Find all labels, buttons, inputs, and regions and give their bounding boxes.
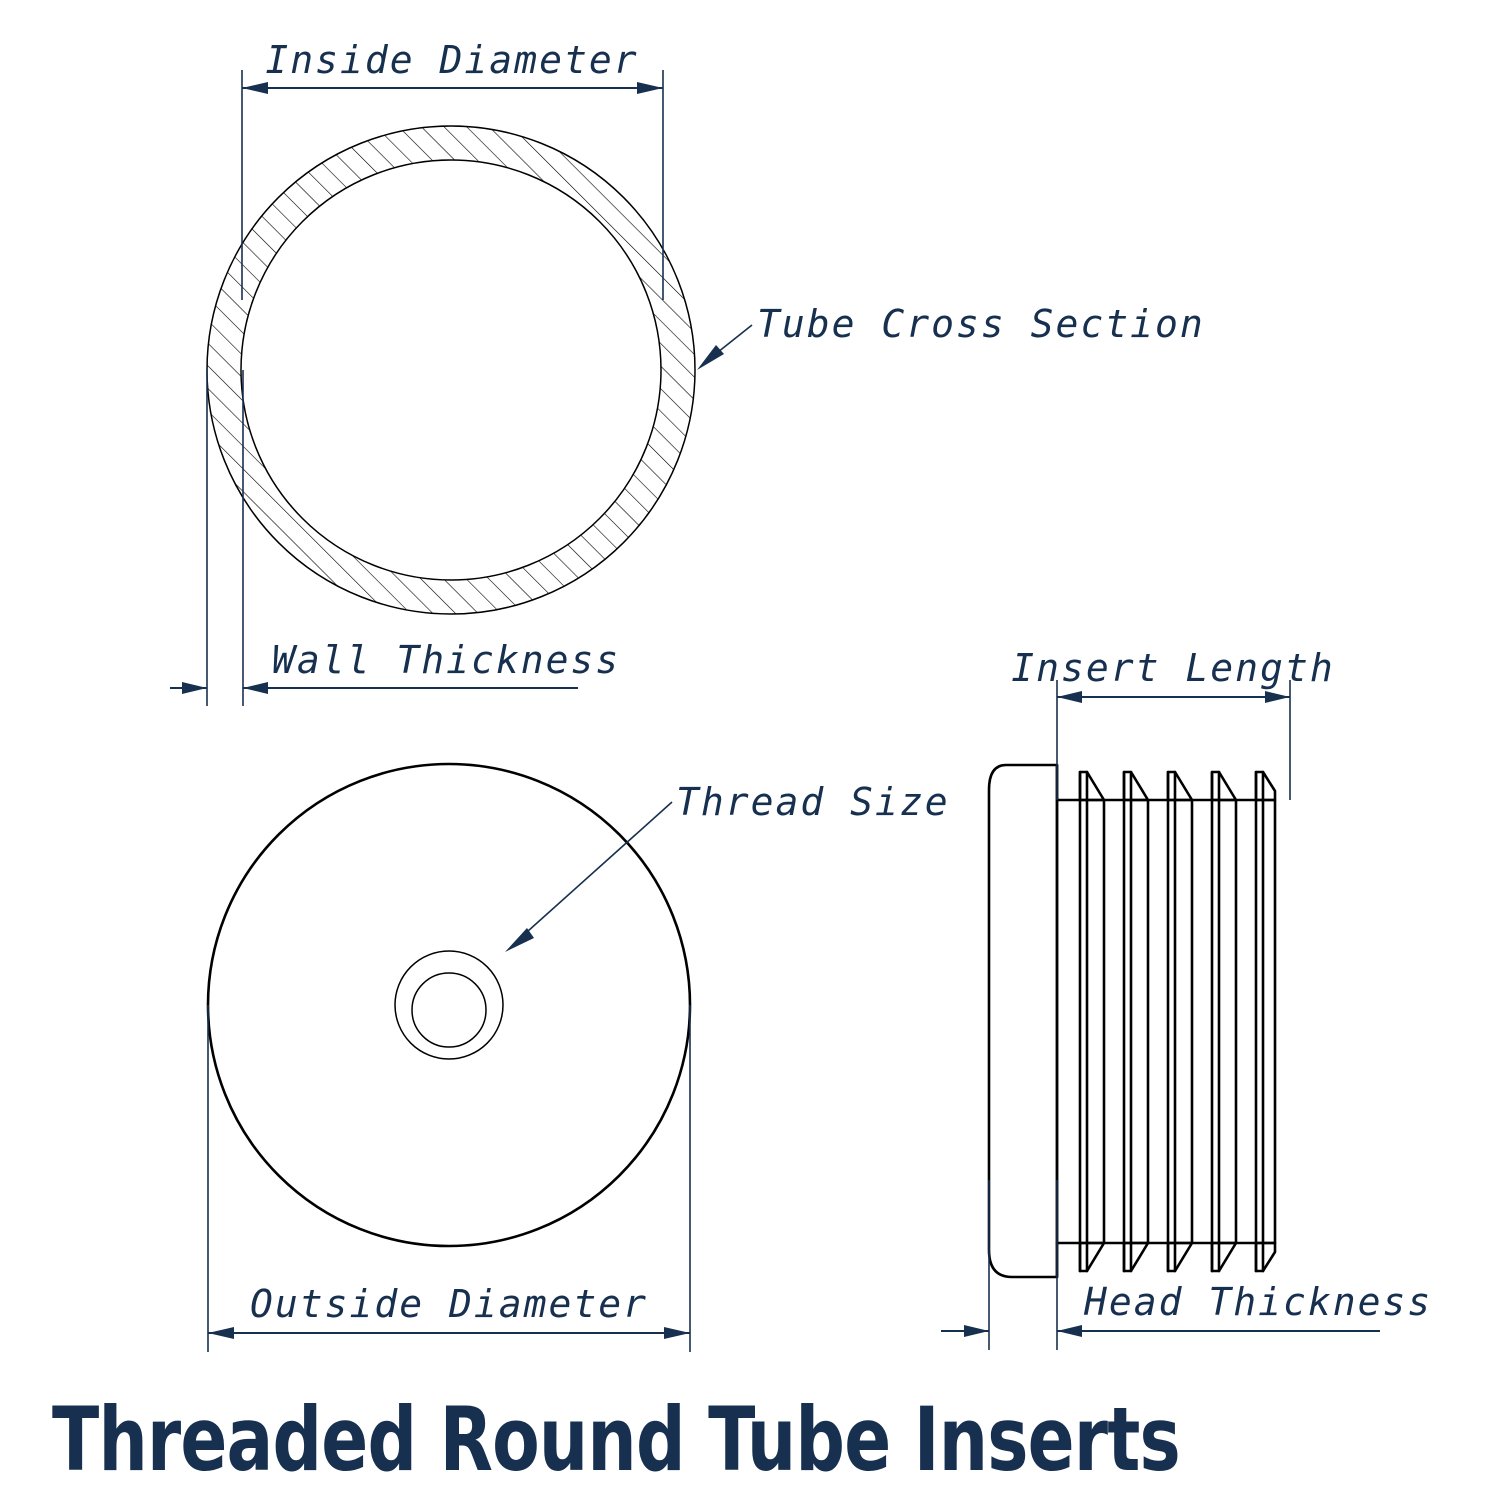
dimension-label-head-thickness: Head Thickness xyxy=(1083,1280,1432,1324)
arrow-head-left xyxy=(182,682,207,694)
arrow-head-right xyxy=(243,682,268,694)
thread-tooth-bottom xyxy=(1080,1243,1104,1271)
technical-drawing-canvas: Inside Diameter Tube Cross Section Wall … xyxy=(0,0,1500,1500)
thread-tooth-top xyxy=(1212,772,1236,800)
page-title: Threaded Round Tube Inserts xyxy=(52,1388,1180,1491)
arrow-head-left xyxy=(1057,691,1082,703)
insert-head-flange xyxy=(989,765,1057,1277)
thread-tooth-top xyxy=(1080,772,1104,800)
tube-cross-section-view xyxy=(190,110,720,640)
dimension-label-insert-length: Insert Length xyxy=(1011,646,1334,690)
dimension-label-inside-diameter: Inside Diameter xyxy=(265,38,638,82)
thread-tooth-bottom xyxy=(1124,1243,1148,1271)
dimension-insert-length: Insert Length xyxy=(1011,646,1334,800)
thread-tooth-bottom xyxy=(1168,1243,1192,1271)
dimension-head-thickness: Head Thickness xyxy=(941,1180,1432,1350)
thread-teeth-bottom xyxy=(1080,1243,1275,1271)
thread-tooth-top xyxy=(1256,772,1275,800)
dimension-label-wall-thickness: Wall Thickness xyxy=(272,638,620,682)
thread-inner-circle xyxy=(412,973,486,1047)
arrow-head-right xyxy=(1057,1325,1082,1337)
label-tube-cross-section: Tube Cross Section xyxy=(757,302,1205,346)
leader-tube-cross-section: Tube Cross Section xyxy=(697,302,1205,370)
arrow-head-right xyxy=(1265,691,1290,703)
leader-arrow-head xyxy=(505,928,534,952)
arrow-head-left xyxy=(208,1327,234,1339)
thread-outer-circle xyxy=(395,951,503,1059)
leader-thread-size: Thread Size xyxy=(505,780,950,952)
tube-wall-hatching xyxy=(190,110,720,640)
insert-side-view xyxy=(989,765,1275,1277)
arrow-head-left xyxy=(964,1325,989,1337)
arrow-head-left xyxy=(242,82,268,94)
thread-root-lines xyxy=(1080,772,1263,1271)
arrow-head-right xyxy=(664,1327,690,1339)
insert-front-view xyxy=(208,764,690,1246)
thread-tooth-bottom xyxy=(1212,1243,1236,1271)
thread-tooth-bottom xyxy=(1256,1243,1275,1271)
insert-body-outline xyxy=(1057,800,1275,1243)
drawing-page: Inside Diameter Tube Cross Section Wall … xyxy=(0,0,1500,1500)
thread-teeth-top xyxy=(1080,772,1275,800)
arrow-head-right xyxy=(637,82,663,94)
label-thread-size: Thread Size xyxy=(676,780,950,824)
insert-outer-circle xyxy=(208,764,690,1246)
dimension-label-outside-diameter: Outside Diameter xyxy=(250,1282,648,1326)
thread-tooth-top xyxy=(1168,772,1192,800)
thread-tooth-top xyxy=(1124,772,1148,800)
